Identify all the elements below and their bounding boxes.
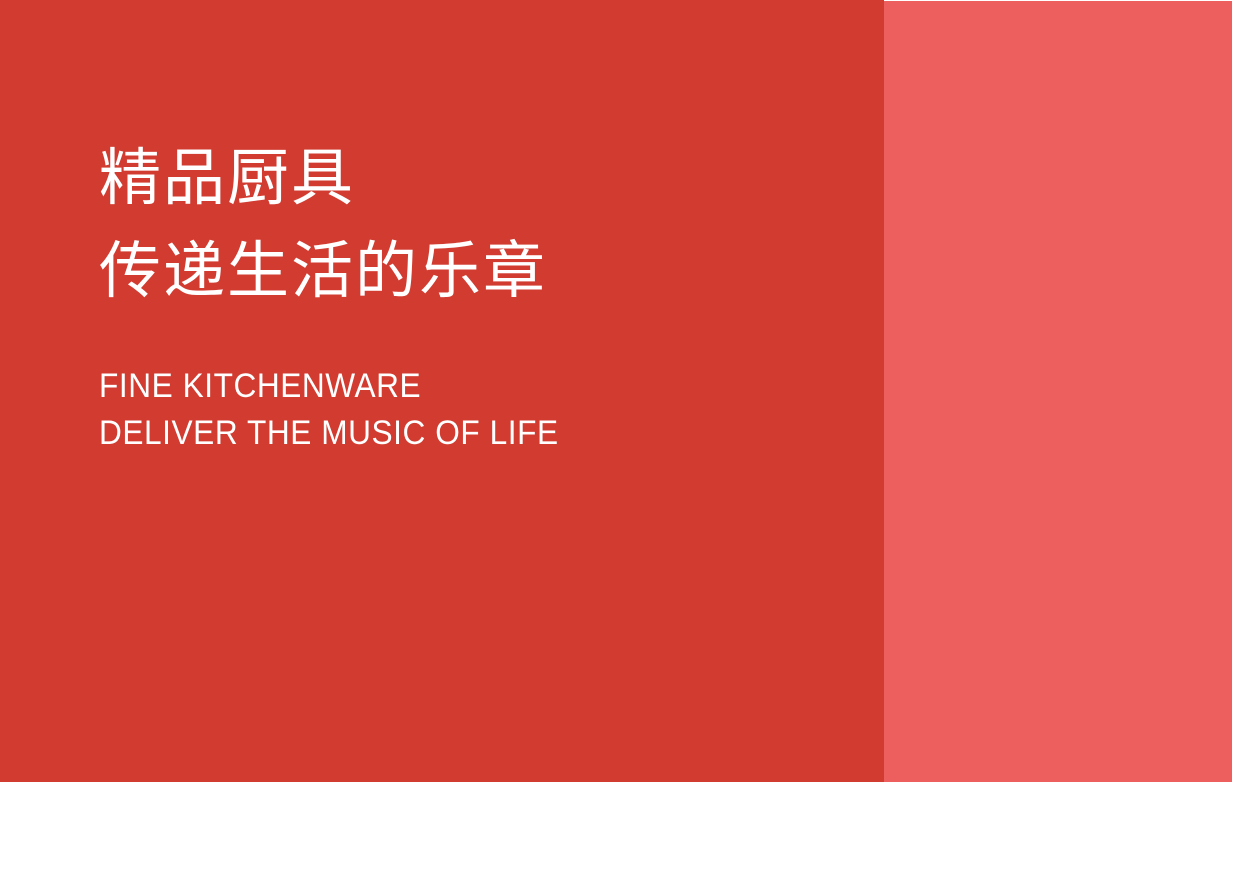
subhead-line-2: DELIVER THE MUSIC OF LIFE [99,410,787,457]
subhead-line-1: FINE KITCHENWARE [99,363,787,410]
subhead-group: FINE KITCHENWARE DELIVER THE MUSIC OF LI… [99,363,839,457]
headline-line-1: 精品厨具 [99,131,839,224]
hero-text-block: 精品厨具 传递生活的乐章 FINE KITCHENWARE DELIVER TH… [99,131,839,457]
accent-red-panel [884,1,1232,782]
headline-line-2: 传递生活的乐章 [99,224,839,317]
slide-canvas: 精品厨具 传递生活的乐章 FINE KITCHENWARE DELIVER TH… [0,0,1235,871]
